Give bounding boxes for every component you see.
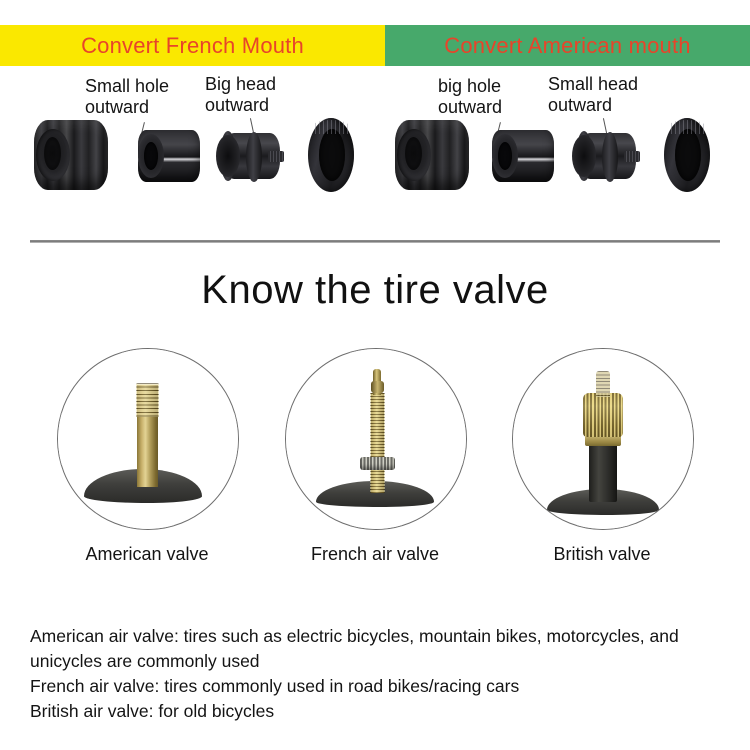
circle-gap-right bbox=[462, 405, 467, 465]
ring-bore bbox=[675, 129, 701, 181]
insert-face bbox=[572, 135, 596, 177]
insert-pin bbox=[268, 151, 284, 162]
circle-gap-right bbox=[234, 405, 239, 465]
page-title: Know the tire valve bbox=[0, 268, 750, 313]
valve-caption-british: British valve bbox=[497, 544, 707, 565]
schrader-threads bbox=[136, 383, 159, 417]
insert-collar-front bbox=[246, 132, 262, 182]
valve-caption-american: American valve bbox=[42, 544, 252, 565]
circle-gap-top bbox=[116, 348, 182, 353]
valve-art-dunlop bbox=[513, 349, 693, 529]
presta-threads bbox=[370, 393, 385, 493]
part-knurled-cap-american bbox=[395, 120, 469, 190]
circle-gap-top bbox=[571, 348, 637, 353]
presta-tip-cap bbox=[371, 381, 384, 393]
valve-circle-british bbox=[512, 348, 694, 530]
description-line: British air valve: for old bicycles bbox=[30, 699, 730, 724]
header-bands: Convert French Mouth Convert American mo… bbox=[0, 25, 750, 66]
ring-bore bbox=[319, 129, 345, 181]
dunlop-knurled-head bbox=[583, 393, 623, 437]
part-knurled-cap-french bbox=[34, 120, 108, 190]
sleeve-hole bbox=[144, 142, 158, 170]
circle-gap-bottom bbox=[116, 525, 182, 530]
circle-gap-left bbox=[512, 405, 517, 465]
dunlop-tip bbox=[596, 371, 610, 397]
part-valve-insert-american bbox=[572, 130, 650, 182]
description-block: American air valve: tires such as electr… bbox=[30, 624, 730, 724]
part-sleeve-american bbox=[492, 130, 554, 182]
part-threaded-ring-french bbox=[308, 118, 354, 192]
valve-caption-french: French air valve bbox=[270, 544, 480, 565]
ring-thread bbox=[312, 120, 350, 134]
ring-thread bbox=[668, 120, 706, 134]
description-line: French air valve: tires commonly used in… bbox=[30, 674, 730, 699]
description-line: unicycles are commonly used bbox=[30, 649, 730, 674]
band-right-label: Convert American mouth bbox=[444, 33, 691, 59]
circle-gap-top bbox=[344, 348, 410, 353]
presta-lock-nut bbox=[360, 457, 395, 470]
circle-gap-left bbox=[57, 405, 62, 465]
part-valve-insert-french bbox=[216, 130, 294, 182]
section-divider bbox=[30, 240, 720, 243]
valve-cell-french: French air valve bbox=[270, 348, 480, 578]
band-convert-french-mouth: Convert French Mouth bbox=[0, 25, 385, 66]
description-line: American air valve: tires such as electr… bbox=[30, 624, 730, 649]
cap-hole bbox=[405, 137, 422, 170]
parts-group-american: big hole outward Small head outward bbox=[400, 66, 740, 226]
circle-gap-bottom bbox=[571, 525, 637, 530]
circle-gap-right bbox=[689, 405, 694, 465]
part-sleeve-french bbox=[138, 130, 200, 182]
valve-cell-british: British valve bbox=[497, 348, 707, 578]
valve-circle-french bbox=[285, 348, 467, 530]
valves-row: American valve French air valve bbox=[0, 348, 750, 578]
valve-cell-american: American valve bbox=[42, 348, 252, 578]
part-threaded-ring-american bbox=[664, 118, 710, 192]
insert-face bbox=[216, 135, 240, 177]
parts-group-french: Small hole outward Big head outward bbox=[20, 66, 385, 226]
part-label-big-hole-outward: big hole outward bbox=[438, 76, 502, 118]
valve-art-presta bbox=[286, 349, 466, 529]
part-label-big-head-outward: Big head outward bbox=[205, 74, 276, 116]
valve-circle-american bbox=[57, 348, 239, 530]
band-left-label: Convert French Mouth bbox=[81, 33, 304, 59]
circle-gap-bottom bbox=[344, 525, 410, 530]
part-label-small-head-outward: Small head outward bbox=[548, 74, 638, 116]
insert-pin bbox=[624, 151, 640, 162]
part-label-small-hole-outward: Small hole outward bbox=[85, 76, 169, 118]
insert-collar-front bbox=[602, 132, 618, 182]
parts-section: Small hole outward Big head outward big … bbox=[0, 66, 750, 226]
sleeve-hole bbox=[498, 142, 512, 170]
circle-gap-left bbox=[285, 405, 290, 465]
cap-hole bbox=[44, 137, 61, 170]
band-convert-american-mouth: Convert American mouth bbox=[385, 25, 750, 66]
dunlop-rubber-stem bbox=[589, 444, 617, 502]
valve-art-schrader bbox=[58, 349, 238, 529]
